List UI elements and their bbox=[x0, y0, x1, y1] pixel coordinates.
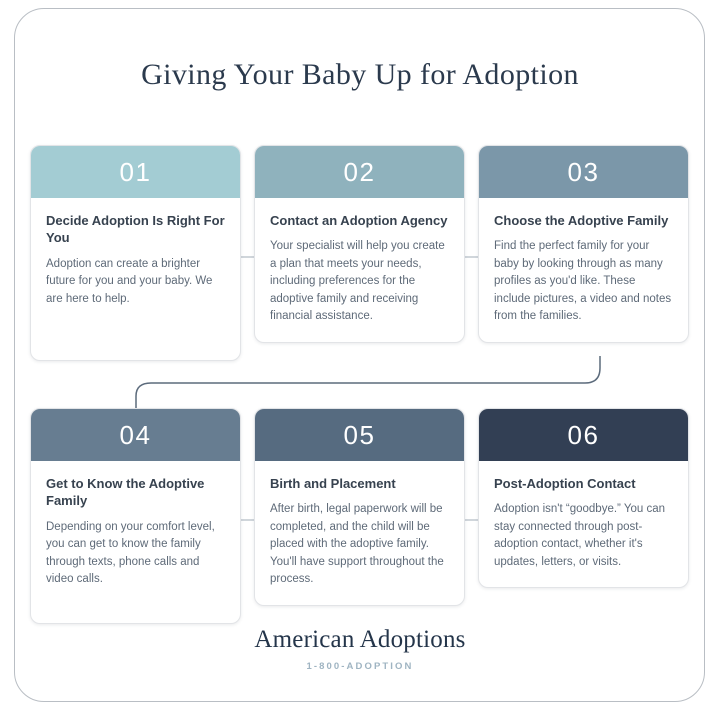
step-number-06: 06 bbox=[568, 422, 600, 448]
footer: American Adoptions 1-800-ADOPTION bbox=[0, 625, 720, 672]
step-number-04: 04 bbox=[120, 422, 152, 448]
step-header-01: 01 bbox=[31, 146, 240, 198]
step-body-01: Decide Adoption Is Right For You Adoptio… bbox=[31, 198, 240, 360]
step-number-02: 02 bbox=[344, 159, 376, 185]
brand-name: American Adoptions bbox=[0, 625, 720, 655]
step-body-03: Choose the Adoptive Family Find the perf… bbox=[479, 198, 688, 342]
step-body-02: Contact an Adoption Agency Your speciali… bbox=[255, 198, 464, 342]
step-body-05: Birth and Placement After birth, legal p… bbox=[255, 461, 464, 605]
step-header-05: 05 bbox=[255, 409, 464, 461]
page-title: Giving Your Baby Up for Adoption bbox=[0, 58, 720, 92]
step-text-03: Find the perfect family for your baby by… bbox=[494, 238, 673, 325]
step-card-06[interactable]: 06 Post-Adoption Contact Adoption isn't … bbox=[478, 408, 689, 588]
step-title-01: Decide Adoption Is Right For You bbox=[46, 212, 225, 247]
step-card-04[interactable]: 04 Get to Know the Adoptive Family Depen… bbox=[30, 408, 241, 624]
step-text-02: Your specialist will help you create a p… bbox=[270, 238, 449, 325]
step-header-06: 06 bbox=[479, 409, 688, 461]
step-body-06: Post-Adoption Contact Adoption isn't “go… bbox=[479, 461, 688, 587]
step-header-04: 04 bbox=[31, 409, 240, 461]
infographic-canvas: Giving Your Baby Up for Adoption 01 Deci… bbox=[0, 0, 720, 711]
step-title-05: Birth and Placement bbox=[270, 475, 449, 492]
step-text-04: Depending on your comfort level, you can… bbox=[46, 519, 225, 589]
step-number-03: 03 bbox=[568, 159, 600, 185]
step-title-06: Post-Adoption Contact bbox=[494, 475, 673, 492]
step-number-05: 05 bbox=[344, 422, 376, 448]
step-number-01: 01 bbox=[120, 159, 152, 185]
step-card-03[interactable]: 03 Choose the Adoptive Family Find the p… bbox=[478, 145, 689, 343]
step-title-03: Choose the Adoptive Family bbox=[494, 212, 673, 229]
step-text-05: After birth, legal paperwork will be com… bbox=[270, 501, 449, 588]
step-card-01[interactable]: 01 Decide Adoption Is Right For You Adop… bbox=[30, 145, 241, 361]
step-title-04: Get to Know the Adoptive Family bbox=[46, 475, 225, 510]
step-text-01: Adoption can create a brighter future fo… bbox=[46, 256, 225, 308]
step-text-06: Adoption isn't “goodbye.” You can stay c… bbox=[494, 501, 673, 571]
step-title-02: Contact an Adoption Agency bbox=[270, 212, 449, 229]
step-header-03: 03 bbox=[479, 146, 688, 198]
step-header-02: 02 bbox=[255, 146, 464, 198]
step-body-04: Get to Know the Adoptive Family Dependin… bbox=[31, 461, 240, 623]
step-card-05[interactable]: 05 Birth and Placement After birth, lega… bbox=[254, 408, 465, 606]
step-card-02[interactable]: 02 Contact an Adoption Agency Your speci… bbox=[254, 145, 465, 343]
brand-phone: 1-800-ADOPTION bbox=[0, 661, 720, 672]
